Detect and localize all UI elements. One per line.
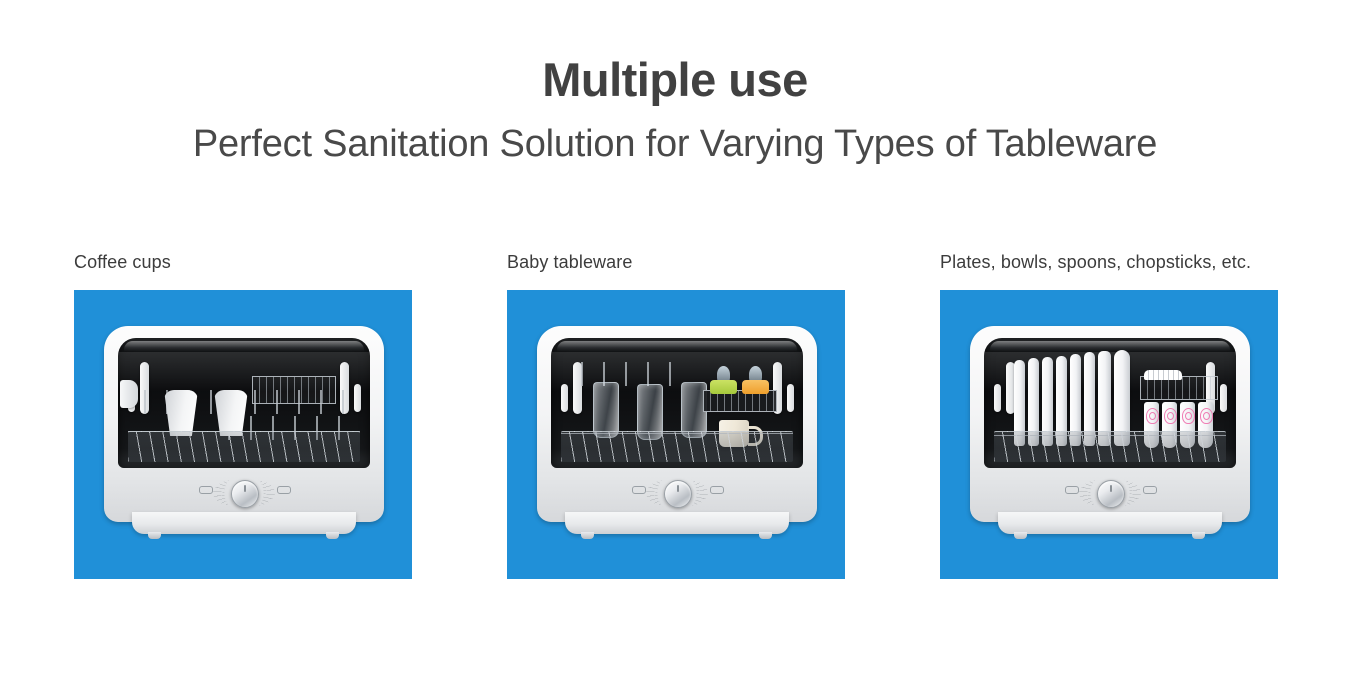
page-subtitle: Perfect Sanitation Solution for Varying … — [0, 103, 1350, 165]
rose-pattern-icon — [1182, 408, 1195, 424]
appliance-base-plinth — [132, 512, 356, 534]
appliance-foot-left — [581, 532, 594, 539]
appliance-foot-left — [148, 532, 161, 539]
rose-pattern-icon — [1146, 408, 1159, 424]
knob-pointer-mark — [677, 485, 679, 492]
page-header: Multiple use Perfect Sanitation Solution… — [0, 0, 1350, 165]
panel-caption-plates-bowls: Plates, bowls, spoons, chopsticks, etc. — [940, 245, 1278, 290]
rack-hooks-upper — [571, 362, 681, 386]
lid-gloss-strip — [990, 341, 1230, 352]
coffee-cup-1 — [164, 390, 198, 436]
control-knob-area[interactable] — [1079, 474, 1141, 512]
product-photo-coffee-cups — [74, 290, 412, 579]
mode-icon-left — [632, 486, 646, 494]
mode-icon-right — [1143, 486, 1157, 494]
side-handle-left-icon — [994, 384, 1001, 412]
rack-base-grid — [994, 431, 1226, 462]
appliance-base-plinth — [998, 512, 1222, 534]
appliance-foot-right — [326, 532, 339, 539]
appliance-base-plinth — [565, 512, 789, 534]
mode-icon-left — [199, 486, 213, 494]
use-case-panel-list: Coffee cups — [74, 245, 1278, 579]
plate-left — [120, 380, 138, 408]
rack-base-grid — [561, 431, 793, 462]
panel-caption-baby-tableware: Baby tableware — [507, 245, 845, 290]
panel-caption-coffee-cups: Coffee cups — [74, 245, 412, 290]
rack-base-grid — [128, 431, 360, 462]
control-knob-area[interactable] — [646, 474, 708, 512]
mode-icon-right — [710, 486, 724, 494]
control-knob[interactable] — [1097, 480, 1125, 508]
appliance-window — [984, 338, 1236, 468]
appliance-foot-right — [1192, 532, 1205, 539]
lid-gloss-strip — [124, 341, 364, 352]
lid-gloss-strip — [557, 341, 797, 352]
baby-bottle-1 — [593, 382, 619, 438]
mode-icon-left — [1065, 486, 1079, 494]
product-photo-plates-bowls — [940, 290, 1278, 579]
side-handle-left-icon — [561, 384, 568, 412]
rose-pattern-icon — [1164, 408, 1177, 424]
page-title: Multiple use — [0, 0, 1350, 103]
control-knob[interactable] — [664, 480, 692, 508]
side-handle-right-icon — [354, 384, 361, 412]
side-handle-right-icon — [787, 384, 794, 412]
dish-dryer-appliance — [104, 326, 384, 546]
appliance-window — [118, 338, 370, 468]
appliance-foot-left — [1014, 532, 1027, 539]
bottle-collar-green — [710, 380, 737, 394]
knob-pointer-mark — [1110, 485, 1112, 492]
dish-dryer-appliance — [970, 326, 1250, 546]
rose-pattern-icon — [1200, 408, 1213, 424]
knob-pointer-mark — [244, 485, 246, 492]
control-knob-area[interactable] — [213, 474, 275, 512]
spoons-group — [1144, 370, 1182, 380]
control-knob[interactable] — [231, 480, 259, 508]
use-case-panel-plates-bowls: Plates, bowls, spoons, chopsticks, etc. — [940, 245, 1278, 579]
product-photo-baby-tableware — [507, 290, 845, 579]
dish-dryer-appliance — [537, 326, 817, 546]
use-case-panel-baby-tableware: Baby tableware — [507, 245, 845, 579]
bottle-collar-orange — [742, 380, 769, 394]
appliance-foot-right — [759, 532, 772, 539]
appliance-window — [551, 338, 803, 468]
side-handle-right-icon — [1220, 384, 1227, 412]
mode-icon-right — [277, 486, 291, 494]
use-case-panel-coffee-cups: Coffee cups — [74, 245, 412, 579]
